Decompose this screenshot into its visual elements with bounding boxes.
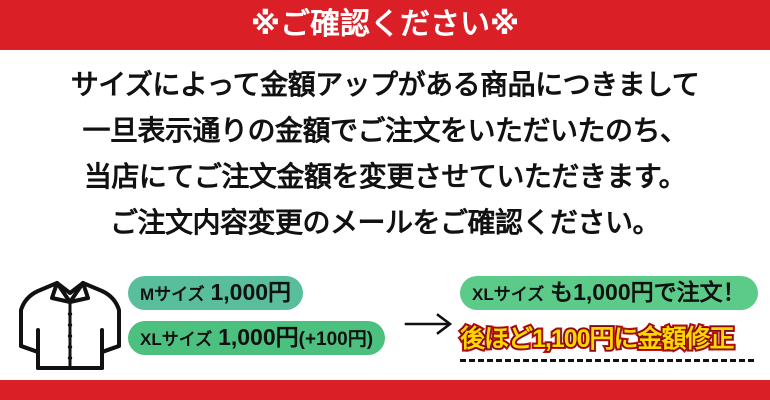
xl-size-price-pill: XLサイズ 1,000円(+100円) — [128, 321, 385, 355]
header-bar: ※ご確認ください※ — [0, 0, 770, 50]
page-title: ※ご確認ください※ — [251, 10, 519, 40]
price-comparison-row: Mサイズ 1,000円 XLサイズ 1,000円(+100円) XLサイズ も1… — [0, 268, 770, 380]
xl-size-price: 1,000円 — [218, 324, 299, 350]
dress-shirt-icon — [16, 272, 124, 372]
xl-size-surcharge: (+100円) — [299, 329, 373, 350]
notice-line-3: 当店にてご注文金額を変更させていただきます。 — [0, 154, 770, 200]
footer-bar — [0, 380, 770, 400]
xl-order-price-pill: XLサイズ も1,000円で注文！ — [460, 276, 758, 310]
xl-order-price-text: も1,000円で注文！ — [550, 279, 746, 305]
after-prices: XLサイズ も1,000円で注文！ 後ほど1,100円に金額修正 — [460, 276, 760, 362]
m-size-label: Mサイズ — [140, 285, 205, 304]
xl-size-label: XLサイズ — [140, 330, 212, 349]
price-notice-banner: ※ご確認ください※ サイズによって金額アップがある商品につきまして 一旦表示通り… — [0, 0, 770, 400]
before-prices: Mサイズ 1,000円 XLサイズ 1,000円(+100円) — [128, 276, 398, 355]
m-size-price-pill: Mサイズ 1,000円 — [128, 276, 303, 310]
m-size-price: 1,000円 — [211, 279, 292, 305]
notice-line-2: 一旦表示通りの金額でご注文をいただいたのち、 — [0, 108, 770, 154]
dashed-underline — [460, 359, 754, 362]
arrow-right-icon — [404, 312, 458, 336]
xl-order-size-label: XLサイズ — [472, 285, 544, 304]
notice-body: サイズによって金額アップがある商品につきまして 一旦表示通りの金額でご注文をいた… — [0, 62, 770, 246]
notice-line-4: ご注文内容変更のメールをご確認ください。 — [0, 200, 770, 246]
price-correction-note: 後ほど1,100円に金額修正 — [460, 319, 760, 355]
notice-line-1: サイズによって金額アップがある商品につきまして — [0, 62, 770, 108]
